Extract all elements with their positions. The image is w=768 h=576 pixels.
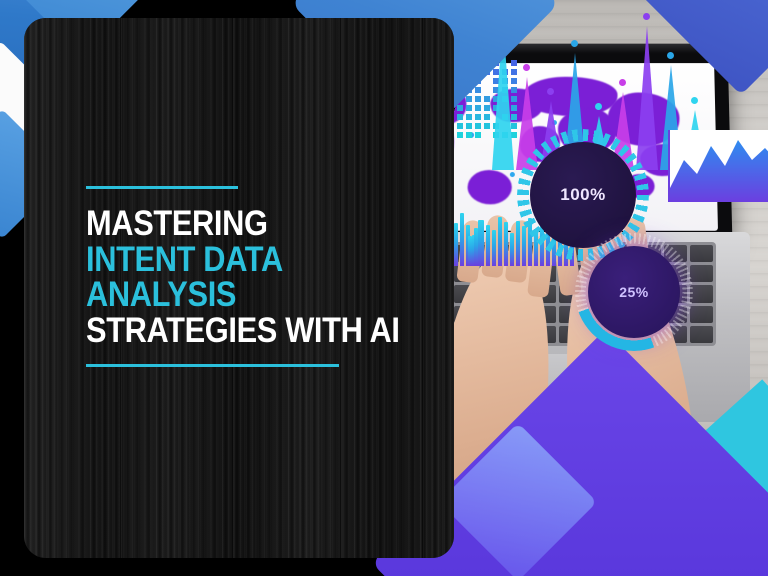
gauge-25-percent: 25% <box>588 246 680 338</box>
divider-bottom <box>86 364 339 367</box>
grid-dot <box>466 105 472 111</box>
chart-bar <box>510 233 514 266</box>
grid-dot <box>466 123 472 129</box>
grid-dot <box>475 114 481 120</box>
grid-dot <box>466 114 472 120</box>
map-hotspot-dot <box>510 172 515 177</box>
divider-top <box>86 186 238 189</box>
chart-bar <box>474 228 478 266</box>
chart-bar <box>522 226 526 266</box>
spike-dot <box>667 52 674 59</box>
grid-dot <box>475 123 481 129</box>
chart-bar <box>504 222 508 266</box>
chart-bar <box>468 236 472 266</box>
spike-dot <box>619 79 626 86</box>
spike-dot <box>643 13 650 20</box>
gauge-100-percent: 100% <box>530 142 636 248</box>
chart-bar <box>516 221 520 266</box>
chart-bar <box>454 223 458 266</box>
grid-dot <box>475 96 481 102</box>
spike-dot <box>523 64 530 71</box>
keyboard-key[interactable] <box>690 326 713 343</box>
keyboard-key[interactable] <box>690 265 713 282</box>
grid-dot <box>457 123 463 129</box>
grid-dot <box>457 132 463 138</box>
banner-canvas: 100% 25% MASTERING INTENT DATA ANALYSIS … <box>0 0 768 576</box>
spike-dot <box>547 88 554 95</box>
chart-bar <box>498 217 502 266</box>
chart-bar <box>492 230 496 266</box>
title-block: MASTERING INTENT DATA ANALYSIS STRATEGIE… <box>86 186 386 367</box>
grid-dot <box>466 96 472 102</box>
title-line-1: MASTERING <box>86 206 350 242</box>
grid-dot <box>457 114 463 120</box>
spike-dot <box>571 40 578 47</box>
title-line-3: ANALYSIS <box>86 277 350 313</box>
title-line-4: STRATEGIES WITH AI <box>86 313 350 349</box>
keyboard-key[interactable] <box>690 285 713 302</box>
chart-bar <box>480 220 484 266</box>
area-chart <box>668 130 768 202</box>
keyboard-key[interactable] <box>690 245 713 262</box>
spike-dot <box>691 97 698 104</box>
grid-dot <box>475 132 481 138</box>
chart-bar <box>486 225 490 266</box>
grid-dot <box>466 132 472 138</box>
spike-dot <box>595 103 602 110</box>
gauge-25-ring <box>575 233 693 351</box>
grid-dot <box>475 87 481 93</box>
keyboard-key[interactable] <box>690 306 713 323</box>
grid-dot <box>457 105 463 111</box>
chart-bar <box>460 213 464 266</box>
spike-bar <box>636 26 658 170</box>
grid-dot <box>475 105 481 111</box>
title-line-2: INTENT DATA <box>86 242 350 278</box>
